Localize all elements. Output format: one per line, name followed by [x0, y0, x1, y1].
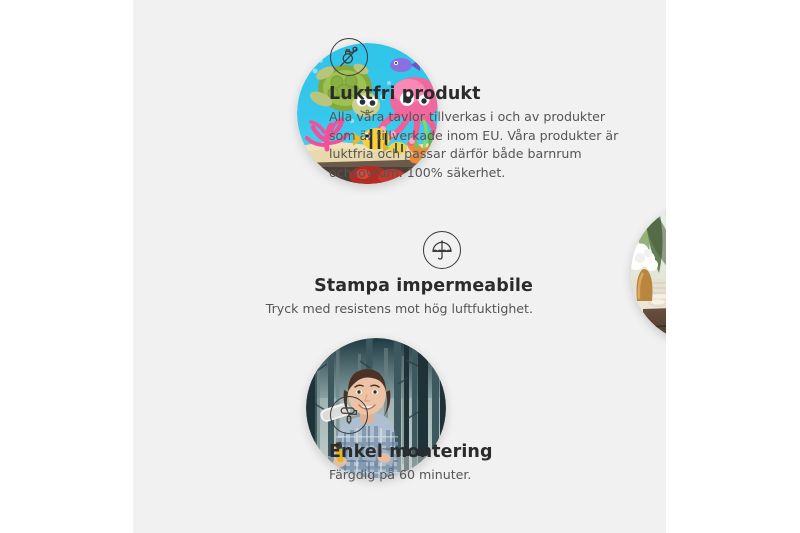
feature-block-odor-free: Luktfri produkt Alla våra tavlor tillver…	[329, 38, 619, 182]
feature-block-waterproof: Stampa impermeabile Tryck med resistens …	[203, 231, 533, 319]
no-scent-perfume-bottle-icon	[330, 38, 368, 76]
feature-body: Tryck med resistens mot hög luftfuktighe…	[203, 300, 533, 319]
feature-icon-wrap	[203, 231, 533, 269]
feature-block-easy-mounting: Enkel montering Färgdig på 60 minuter.	[329, 396, 619, 485]
content-panel: Luktfri produkt Alla våra tavlor tillver…	[133, 0, 666, 533]
feature-title: Luktfri produkt	[329, 84, 619, 105]
feature-title: Stampa impermeabile	[203, 276, 533, 297]
paint-roller-icon	[330, 396, 368, 434]
umbrella-icon	[423, 231, 461, 269]
feature-body: Alla våra tavlor tillverkas i och av pro…	[329, 108, 619, 182]
feature-title: Enkel montering	[329, 442, 619, 463]
photo-bathroom-vanity-tropical-wallpaper	[631, 203, 666, 343]
feature-body: Färgdig på 60 minuter.	[329, 466, 619, 485]
promo-graphic: Luktfri produkt Alla våra tavlor tillver…	[0, 0, 800, 533]
